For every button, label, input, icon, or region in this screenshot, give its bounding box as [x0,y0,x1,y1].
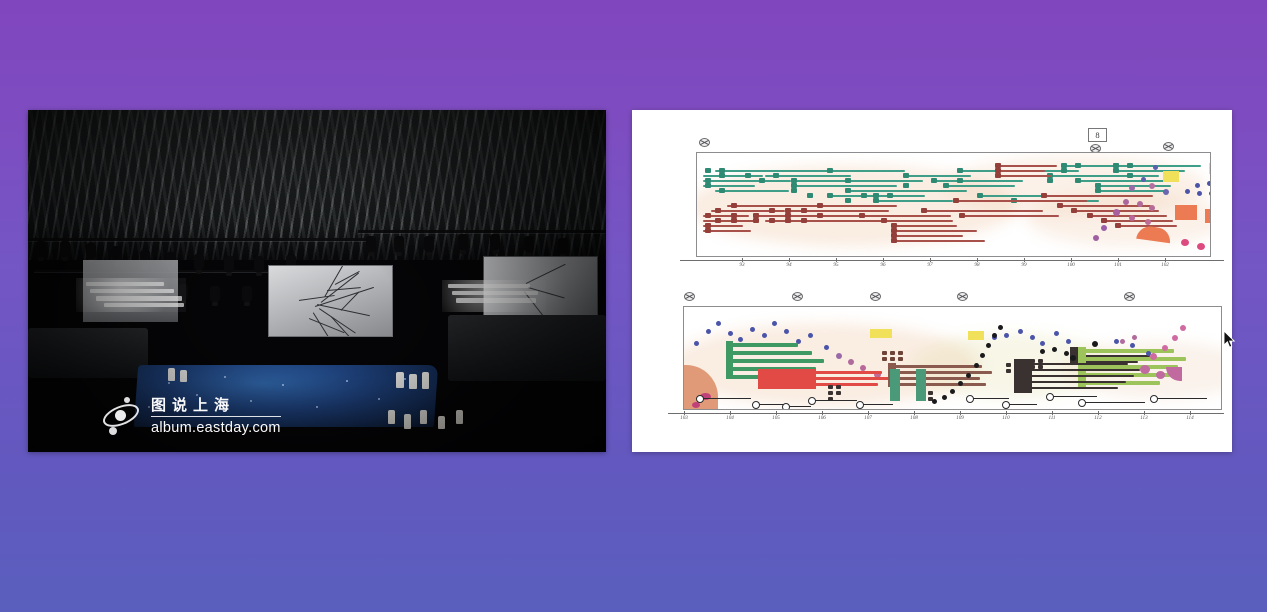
note-dot [1163,189,1169,195]
stage-light [424,236,434,253]
lighting-truss [28,238,368,241]
note-dot [1195,183,1200,188]
main-projection-screen [268,265,393,337]
eastday-orbit-logo-icon [100,395,142,437]
note-dot [1181,239,1189,246]
note-dot [1113,209,1120,216]
audience-row [90,289,174,293]
audience-row [452,291,538,295]
orange-curve [1136,225,1172,244]
page-number-box: 8 [1088,128,1107,142]
concert-hall-photo: 图说上海 album.eastday.com [28,110,606,452]
performer [420,410,427,424]
stage-light [224,256,234,273]
stage-light [458,234,468,251]
stage-light [366,236,376,253]
crossed-circle-icon [957,292,968,301]
performer [456,410,463,424]
orange-block [1205,209,1211,223]
stage-light [86,243,96,260]
note-dot [1197,191,1202,196]
stage-light [194,254,204,271]
note-dot [1129,185,1135,191]
note-dot [1129,215,1135,221]
stage-light [394,236,404,253]
stage-light [490,234,500,251]
note-dot [1197,243,1205,250]
performer [404,414,411,429]
performer [409,374,417,389]
stage-light [36,241,46,258]
crossed-circle-icon [1163,142,1174,151]
crossed-circle-icon [870,292,881,301]
crossed-circle-icon [684,292,695,301]
note-dot [1141,177,1146,182]
watermark-url-text: album.eastday.com [151,417,281,436]
audience-row [456,298,536,303]
audience-row [86,282,164,286]
note-dot [1093,235,1099,241]
crossed-circle-icon [1124,292,1135,301]
lighting-truss [358,230,606,233]
watermark-chinese-text: 图说上海 [151,396,281,418]
score-document-card: 8 [632,110,1232,452]
note-dot [1137,201,1143,207]
axis-top [680,260,1224,261]
score-panel-bottom [683,306,1222,410]
note-dot [1153,165,1158,170]
stage-light [210,286,220,303]
note-dot [1209,191,1211,196]
balcony-right [448,315,606,381]
crossed-circle-icon [792,292,803,301]
yellow-block [870,329,892,338]
note-dot [1207,181,1211,186]
audience-row [96,296,182,301]
note-dot [1101,225,1107,231]
performer [388,410,395,424]
note-dot [1123,199,1129,205]
stage-light [242,286,252,303]
note-dot [1185,189,1190,194]
note-dot [1145,219,1151,225]
crossed-circle-icon [699,138,710,147]
yellow-block [1163,171,1179,182]
balcony-left [28,328,148,378]
stage-light [60,241,70,258]
score-panel-top [696,152,1211,257]
red-block [758,369,816,389]
performer [396,372,404,388]
stage-light [254,256,264,273]
mouse-pointer-icon [1224,331,1236,349]
note-dot [1149,205,1155,211]
performer [168,368,175,381]
stage-light [524,236,534,253]
yellow-block [968,331,984,340]
performer [438,416,445,429]
audience-row [104,303,184,307]
performer [422,372,429,389]
audience-row [448,284,530,288]
axis-bottom [668,413,1224,414]
yellow-block [1209,163,1211,174]
stage-light [558,238,568,255]
note-dot [1149,183,1155,189]
performer [180,370,187,382]
photo-watermark: 图说上海 album.eastday.com [100,395,281,437]
orange-block [1175,205,1197,220]
